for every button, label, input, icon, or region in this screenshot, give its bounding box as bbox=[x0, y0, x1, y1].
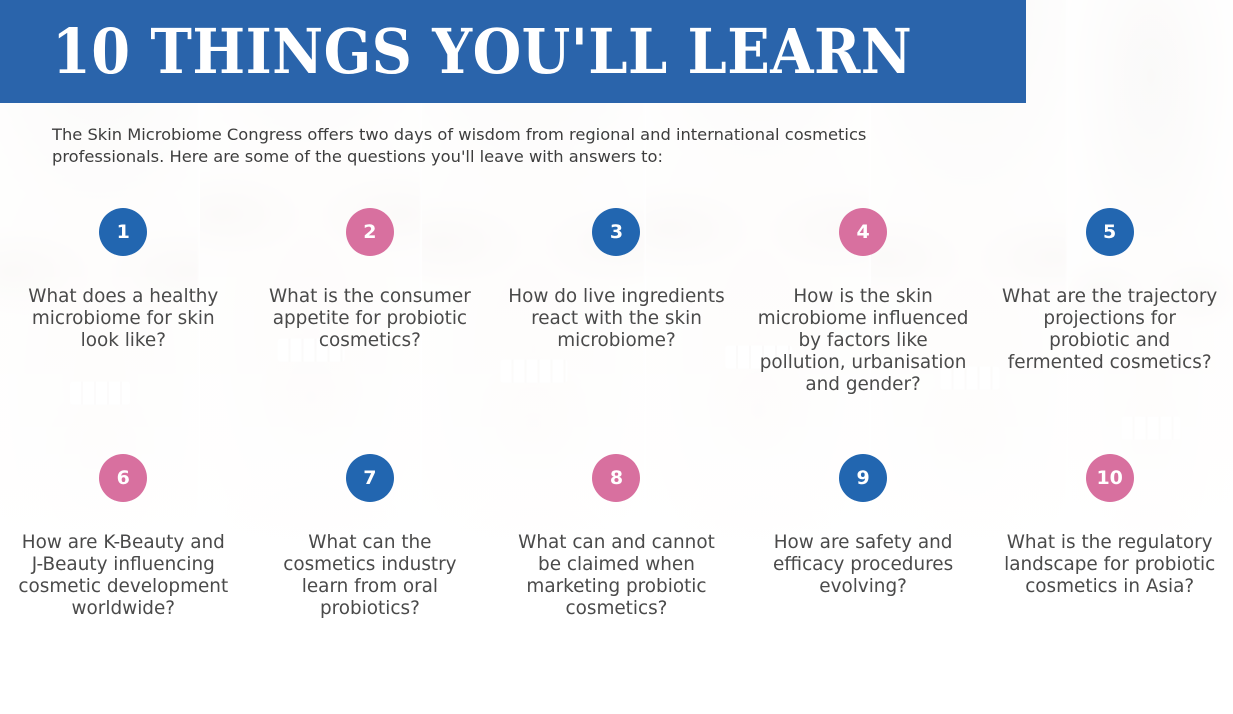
list-item-5[interactable]: 5 What are the trajectory projections fo… bbox=[986, 208, 1233, 396]
list-item-8[interactable]: 8 What can and cannot be claimed when ma… bbox=[493, 454, 740, 620]
number-badge-2: 2 bbox=[346, 208, 394, 256]
list-item-1[interactable]: 1 What does a healthy microbiome for ski… bbox=[0, 208, 247, 396]
list-item-10[interactable]: 10 What is the regulatory landscape for … bbox=[986, 454, 1233, 620]
item-question-7: What can the cosmetics industry learn fr… bbox=[261, 532, 479, 620]
number-badge-9: 9 bbox=[839, 454, 887, 502]
number-badge-5: 5 bbox=[1086, 208, 1134, 256]
number-badge-3: 3 bbox=[592, 208, 640, 256]
item-question-4: How is the skin microbiome influenced by… bbox=[754, 286, 972, 396]
item-question-10: What is the regulatory landscape for pro… bbox=[1001, 532, 1219, 598]
items-row-top: 1 What does a healthy microbiome for ski… bbox=[0, 208, 1233, 396]
item-question-8: What can and cannot be claimed when mark… bbox=[507, 532, 725, 620]
item-question-3: How do live ingredients react with the s… bbox=[507, 286, 725, 352]
number-badge-10: 10 bbox=[1086, 454, 1134, 502]
list-item-3[interactable]: 3 How do live ingredients react with the… bbox=[493, 208, 740, 396]
list-item-9[interactable]: 9 How are safety and efficacy procedures… bbox=[740, 454, 987, 620]
item-question-1: What does a healthy microbiome for skin … bbox=[14, 286, 232, 352]
item-question-9: How are safety and efficacy procedures e… bbox=[754, 532, 972, 598]
item-question-6: How are K-Beauty and J-Beauty influencin… bbox=[14, 532, 232, 620]
number-badge-1: 1 bbox=[99, 208, 147, 256]
number-badge-7: 7 bbox=[346, 454, 394, 502]
list-item-6[interactable]: 6 How are K-Beauty and J-Beauty influenc… bbox=[0, 454, 247, 620]
number-badge-4: 4 bbox=[839, 208, 887, 256]
list-item-2[interactable]: 2 What is the consumer appetite for prob… bbox=[247, 208, 494, 396]
item-question-2: What is the consumer appetite for probio… bbox=[261, 286, 479, 352]
number-badge-6: 6 bbox=[99, 454, 147, 502]
intro-paragraph: The Skin Microbiome Congress offers two … bbox=[52, 124, 882, 168]
list-item-7[interactable]: 7 What can the cosmetics industry learn … bbox=[247, 454, 494, 620]
item-question-5: What are the trajectory projections for … bbox=[1001, 286, 1219, 374]
content-area: The Skin Microbiome Congress offers two … bbox=[0, 0, 1233, 714]
number-badge-8: 8 bbox=[592, 454, 640, 502]
list-item-4[interactable]: 4 How is the skin microbiome influenced … bbox=[740, 208, 987, 396]
items-row-bottom: 6 How are K-Beauty and J-Beauty influenc… bbox=[0, 454, 1233, 620]
